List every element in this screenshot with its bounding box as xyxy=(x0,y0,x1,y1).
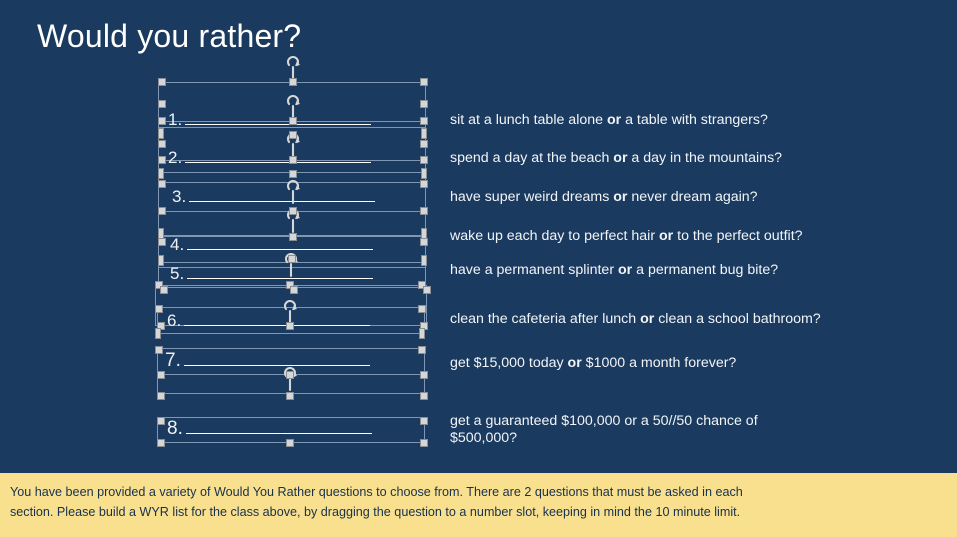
question-item[interactable]: get $15,000 today or $1000 a month forev… xyxy=(450,355,736,372)
resize-handle[interactable] xyxy=(286,371,294,379)
slot-row[interactable]: 6. xyxy=(167,311,370,331)
slot-rule[interactable] xyxy=(189,187,375,202)
resize-handle[interactable] xyxy=(289,156,297,164)
resize-handle[interactable] xyxy=(286,322,294,330)
resize-handle[interactable] xyxy=(158,207,166,215)
question-text-pre: spend a day at the beach xyxy=(450,150,613,166)
question-or: or xyxy=(613,189,627,205)
question-or: or xyxy=(613,150,627,166)
question-text-post: clean a school bathroom? xyxy=(654,311,820,327)
resize-handle[interactable] xyxy=(289,207,297,215)
resize-handle[interactable] xyxy=(423,286,431,294)
slide-canvas: Would you rather? 1. 2. 3. 4. 5. 6. 7. 8… xyxy=(0,0,957,537)
resize-handle[interactable] xyxy=(157,439,165,447)
question-or: or xyxy=(640,311,654,327)
resize-handle[interactable] xyxy=(158,128,164,139)
slot-row[interactable]: 4. xyxy=(170,235,373,255)
slot-number: 1. xyxy=(168,110,182,129)
resize-handle[interactable] xyxy=(420,392,428,400)
question-item[interactable]: sit at a lunch table alone or a table wi… xyxy=(450,112,768,129)
resize-handle[interactable] xyxy=(158,156,166,164)
resize-handle[interactable] xyxy=(157,392,165,400)
question-text-pre: clean the cafeteria after lunch xyxy=(450,311,640,327)
resize-handle[interactable] xyxy=(289,233,297,241)
slot-rule[interactable] xyxy=(185,110,371,125)
resize-handle[interactable] xyxy=(158,140,166,148)
instruction-line-2: section. Please build a WYR list for the… xyxy=(10,502,945,522)
slot-rule[interactable] xyxy=(187,235,373,250)
resize-handle[interactable] xyxy=(158,255,164,266)
resize-handle[interactable] xyxy=(420,417,428,425)
resize-handle[interactable] xyxy=(418,346,426,354)
resize-handle[interactable] xyxy=(158,78,166,86)
slot-number: 5. xyxy=(170,264,184,283)
slot-number: 8. xyxy=(167,418,183,439)
resize-handle[interactable] xyxy=(420,439,428,447)
resize-handle[interactable] xyxy=(286,439,294,447)
resize-handle[interactable] xyxy=(420,117,428,125)
question-text-post: a table with strangers? xyxy=(621,112,768,128)
resize-handle[interactable] xyxy=(421,255,427,266)
slot-rule[interactable] xyxy=(184,311,370,326)
slot-number: 4. xyxy=(170,235,184,254)
resize-handle[interactable] xyxy=(420,180,428,188)
slot-number: 2. xyxy=(168,148,182,167)
question-text-post: never dream again? xyxy=(627,189,757,205)
slot-row[interactable]: 1. xyxy=(168,110,371,130)
resize-handle[interactable] xyxy=(155,346,163,354)
resize-handle[interactable] xyxy=(419,328,425,339)
resize-handle[interactable] xyxy=(289,170,297,178)
question-item[interactable]: wake up each day to perfect hair or to t… xyxy=(450,228,803,245)
resize-handle[interactable] xyxy=(420,207,428,215)
resize-handle[interactable] xyxy=(418,305,426,313)
instruction-banner: You have been provided a variety of Woul… xyxy=(0,473,957,537)
question-or: or xyxy=(607,112,621,128)
resize-handle[interactable] xyxy=(158,100,166,108)
rotate-handle-icon[interactable] xyxy=(284,180,302,206)
question-text-pre: sit at a lunch table alone xyxy=(450,112,607,128)
resize-handle[interactable] xyxy=(158,168,164,179)
resize-handle[interactable] xyxy=(420,156,428,164)
resize-handle[interactable] xyxy=(157,417,165,425)
slot-rule[interactable] xyxy=(186,419,372,434)
question-text-post: a permanent bug bite? xyxy=(632,262,778,278)
resize-handle[interactable] xyxy=(289,131,297,139)
question-text-post: to the perfect outfit? xyxy=(673,228,802,244)
slot-row[interactable]: 5. xyxy=(170,264,373,284)
question-item[interactable]: get a guaranteed $100,000 or a 50//50 ch… xyxy=(450,413,810,447)
resize-handle[interactable] xyxy=(155,305,163,313)
question-text-pre: get a guaranteed $100,000 or a 50//50 ch… xyxy=(450,413,758,446)
page-title: Would you rather? xyxy=(37,17,301,55)
question-item[interactable]: spend a day at the beach or a day in the… xyxy=(450,150,782,167)
resize-handle[interactable] xyxy=(158,117,166,125)
slot-row[interactable]: 7. xyxy=(165,351,370,371)
resize-handle[interactable] xyxy=(158,238,166,246)
question-item[interactable]: clean the cafeteria after lunch or clean… xyxy=(450,311,821,328)
slot-rule[interactable] xyxy=(187,264,373,279)
resize-handle[interactable] xyxy=(289,117,297,125)
resize-handle[interactable] xyxy=(158,180,166,188)
resize-handle[interactable] xyxy=(421,168,427,179)
resize-handle[interactable] xyxy=(420,100,428,108)
question-text-post: a day in the mountains? xyxy=(627,150,782,166)
resize-handle[interactable] xyxy=(420,371,428,379)
resize-handle[interactable] xyxy=(421,128,427,139)
resize-handle[interactable] xyxy=(420,140,428,148)
slot-number: 3. xyxy=(172,187,186,206)
slot-number: 6. xyxy=(167,311,181,330)
resize-handle[interactable] xyxy=(420,78,428,86)
slot-rule[interactable] xyxy=(185,148,371,163)
question-or: or xyxy=(618,262,632,278)
resize-handle[interactable] xyxy=(288,255,296,263)
slot-row[interactable]: 8. xyxy=(167,419,372,439)
question-or: or xyxy=(568,355,582,371)
question-text-pre: have super weird dreams xyxy=(450,189,613,205)
question-or: or xyxy=(659,228,673,244)
question-item[interactable]: have a permanent splinter or a permanent… xyxy=(450,262,778,279)
question-item[interactable]: have super weird dreams or never dream a… xyxy=(450,189,758,206)
question-text-post: $1000 a month forever? xyxy=(582,355,737,371)
slot-number: 7. xyxy=(165,350,181,371)
instruction-line-1: You have been provided a variety of Woul… xyxy=(10,482,945,502)
resize-handle[interactable] xyxy=(289,78,297,86)
resize-handle[interactable] xyxy=(157,371,165,379)
resize-handle[interactable] xyxy=(420,238,428,246)
slot-rule[interactable] xyxy=(184,351,370,366)
resize-handle[interactable] xyxy=(286,392,294,400)
slot-row[interactable]: 2. xyxy=(168,148,371,168)
slot-row[interactable]: 3. xyxy=(172,187,375,207)
resize-handle[interactable] xyxy=(155,328,161,339)
resize-handle[interactable] xyxy=(160,286,168,294)
question-text-pre: wake up each day to perfect hair xyxy=(450,228,659,244)
question-text-pre: get $15,000 today xyxy=(450,355,568,371)
resize-handle[interactable] xyxy=(290,286,298,294)
question-text-pre: have a permanent splinter xyxy=(450,262,618,278)
